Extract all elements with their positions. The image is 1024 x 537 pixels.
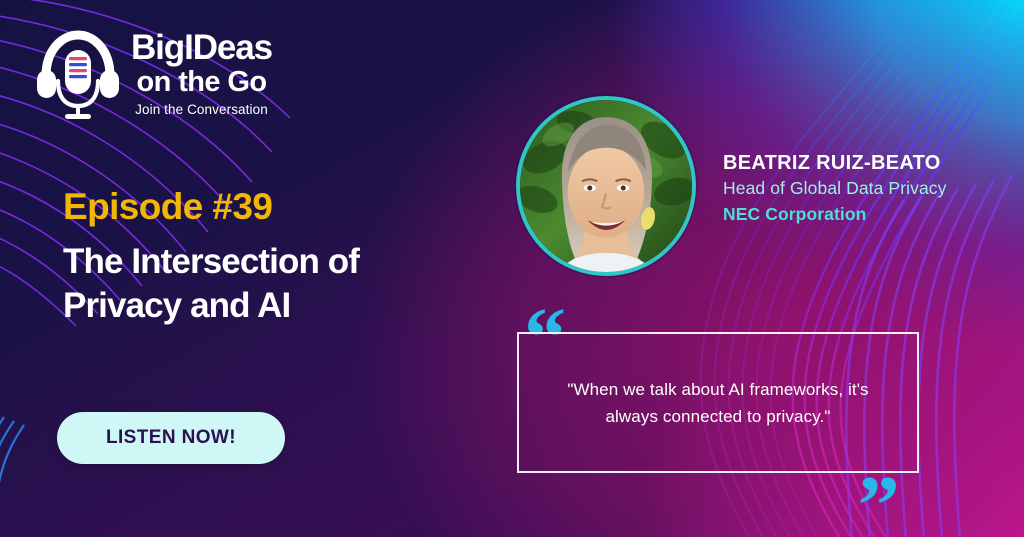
speaker-avatar <box>516 96 696 276</box>
brand-logo: BigIDeas on the Go Join the Conversation <box>34 26 272 122</box>
logo-line-2: on the Go <box>137 66 267 98</box>
quote-text: "When we talk about AI frameworks, it's … <box>519 375 917 429</box>
podcast-microphone-headphones-icon <box>34 26 122 122</box>
podcast-promo-card: BigIDeas on the Go Join the Conversation… <box>0 0 1024 537</box>
episode-number: Episode #39 <box>63 186 272 228</box>
speaker-role: Head of Global Data Privacy <box>723 176 1013 201</box>
episode-title: The Intersection of Privacy and AI <box>63 240 483 328</box>
logo-line-1: BigIDeas <box>131 31 272 66</box>
logo-tagline: Join the Conversation <box>135 102 268 117</box>
listen-now-button[interactable]: LISTEN NOW! <box>57 412 285 464</box>
speaker-info: BEATRIZ RUIZ-BEATO Head of Global Data P… <box>723 150 1013 227</box>
quote-close-mark: “ <box>858 432 900 516</box>
speaker-name: BEATRIZ RUIZ-BEATO <box>723 150 1013 176</box>
speaker-organization: NEC Corporation <box>723 201 1013 227</box>
